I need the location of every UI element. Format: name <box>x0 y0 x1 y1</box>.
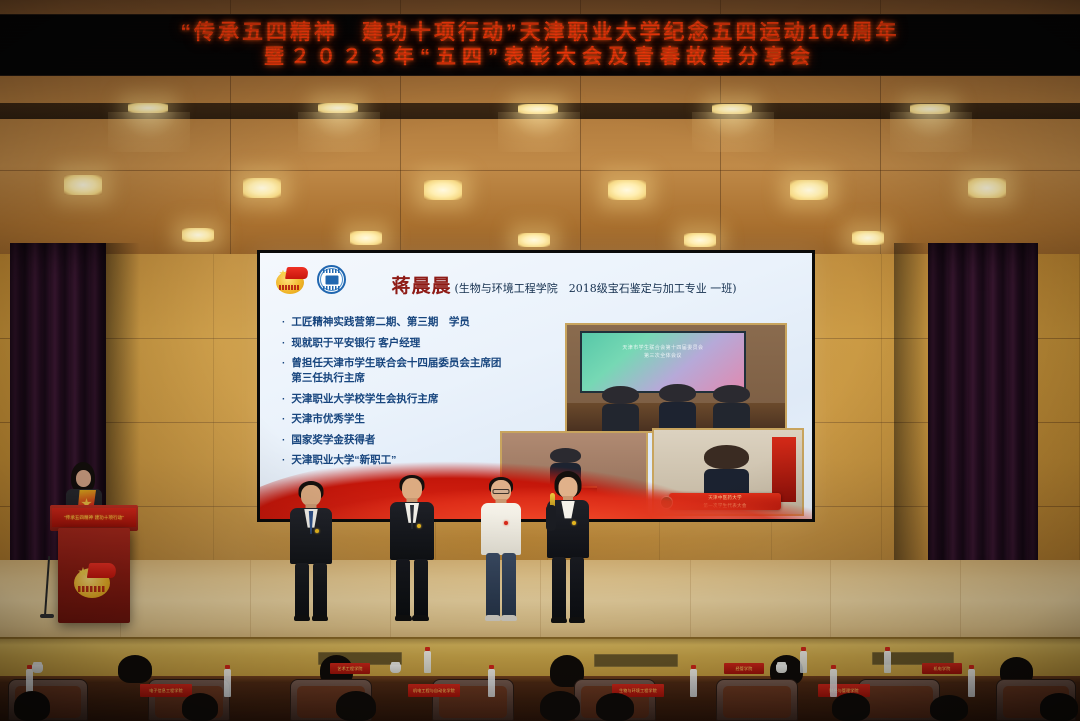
audience-name-placard: 艺术工程学院 <box>330 663 370 674</box>
bullet-dot-icon: · <box>282 356 285 371</box>
host-face <box>76 470 91 487</box>
slide-inset-photo-plenary: 天津市学生联合会第十四届委员会 第三次全体会议 <box>565 323 787 433</box>
ceiling-light <box>852 231 884 245</box>
teacup <box>32 664 43 673</box>
slide-bullet-item: · 天津市优秀学生 <box>282 412 554 427</box>
audience-name-placard: 经管学院 <box>724 663 764 674</box>
water-bottle <box>884 651 891 673</box>
ceiling-light <box>350 231 382 245</box>
water-bottle <box>488 669 495 697</box>
audience-name-placard: 机电学院 <box>922 663 962 674</box>
ceiling-light <box>608 180 646 200</box>
audience-head <box>596 693 634 721</box>
ceiling-light <box>968 178 1006 198</box>
led-banner-line-2: 暨２０２３年“五四”表彰大会及青春故事分享会 <box>264 45 816 70</box>
audience-seat <box>858 679 940 721</box>
bullet-dot-icon: · <box>282 315 285 330</box>
slide-person-meta: (生物与环境工程学院 2018级宝石鉴定与加工专业 一班) <box>454 282 736 295</box>
audience-head <box>182 693 218 721</box>
audience-head <box>930 695 968 721</box>
podium-youth-league-emblem-icon <box>72 562 116 598</box>
led-banner: “传承五四精神 建功十项行动”天津职业大学纪念五四运动104周年 暨２０２３年“… <box>0 14 1080 76</box>
ceiling-light <box>318 103 358 113</box>
water-bottle <box>424 651 431 673</box>
microphone-stand-base <box>40 614 54 618</box>
ceiling-light <box>243 178 281 198</box>
teacup <box>390 664 401 673</box>
audience-head <box>118 655 152 683</box>
stage-vent <box>594 654 678 667</box>
stage-floor <box>0 560 1080 645</box>
projection-screen: 蒋晨晨(生物与环境工程学院 2018级宝石鉴定与加工专业 一班) · 工匠精神实… <box>257 250 815 522</box>
stage-person-award-recipient-1 <box>288 481 334 621</box>
slide-title: 蒋晨晨(生物与环境工程学院 2018级宝石鉴定与加工专业 一班) <box>260 271 812 298</box>
water-bottle <box>830 669 837 697</box>
audience-seat <box>716 679 798 721</box>
audience-head <box>14 691 50 721</box>
audience-head <box>540 691 580 721</box>
slide-bullet-item: · 工匠精神实践营第二期、第三期 学员 <box>282 315 554 330</box>
stage-person-award-recipient-3 <box>478 477 524 621</box>
stage-person-award-recipient-4-speaker <box>544 471 592 623</box>
slide-person-name: 蒋晨晨 <box>391 275 451 297</box>
ceiling-light <box>128 103 168 113</box>
audience-name-placard: 机电工程与自动化学院 <box>408 684 460 697</box>
water-bottle <box>224 669 231 697</box>
podium-sign: “传承五四精神 建功十项行动” <box>52 508 136 527</box>
ceiling-light <box>64 175 102 195</box>
bullet-dot-icon: · <box>282 392 285 407</box>
bullet-dot-icon: · <box>282 453 285 468</box>
speaking-podium <box>58 528 130 623</box>
ceiling-light <box>518 104 558 114</box>
ceiling-light <box>910 104 950 114</box>
slide-bullet-item: · 天津职业大学校学生会执行主席 <box>282 392 554 407</box>
stage-curtain-right <box>928 243 1038 603</box>
audience-name-placard: 电子信息工程学院 <box>140 684 192 697</box>
bullet-dot-icon: · <box>282 336 285 351</box>
stage-person-award-recipient-2 <box>388 475 436 621</box>
bullet-dot-icon: · <box>282 433 285 448</box>
water-bottle <box>690 669 697 697</box>
audience-head <box>1040 693 1078 721</box>
slide-bullet-item: · 现就职于平安银行 客户经理 <box>282 336 554 351</box>
ceiling-light <box>712 104 752 114</box>
ceiling-light <box>424 180 462 200</box>
audience-head <box>832 693 870 721</box>
ceiling-light <box>684 233 716 247</box>
teacup <box>776 664 787 673</box>
auditorium-stage-photo: “传承五四精神 建功十项行动”天津职业大学纪念五四运动104周年 暨２０２３年“… <box>0 0 1080 721</box>
water-bottle <box>968 669 975 697</box>
audience-head <box>336 691 376 721</box>
water-bottle <box>800 651 807 673</box>
ceiling-light <box>182 228 214 242</box>
ceiling-light <box>518 233 550 247</box>
ceiling-light <box>790 180 828 200</box>
bullet-dot-icon: · <box>282 412 285 427</box>
slide-bullet-item: · 曾担任天津市学生联合会十四届委员会主席团 第三任执行主席 <box>282 356 554 386</box>
presentation-slide: 蒋晨晨(生物与环境工程学院 2018级宝石鉴定与加工专业 一班) · 工匠精神实… <box>260 253 812 519</box>
led-banner-line-1: “传承五四精神 建功十项行动”天津职业大学纪念五四运动104周年 <box>180 20 899 45</box>
